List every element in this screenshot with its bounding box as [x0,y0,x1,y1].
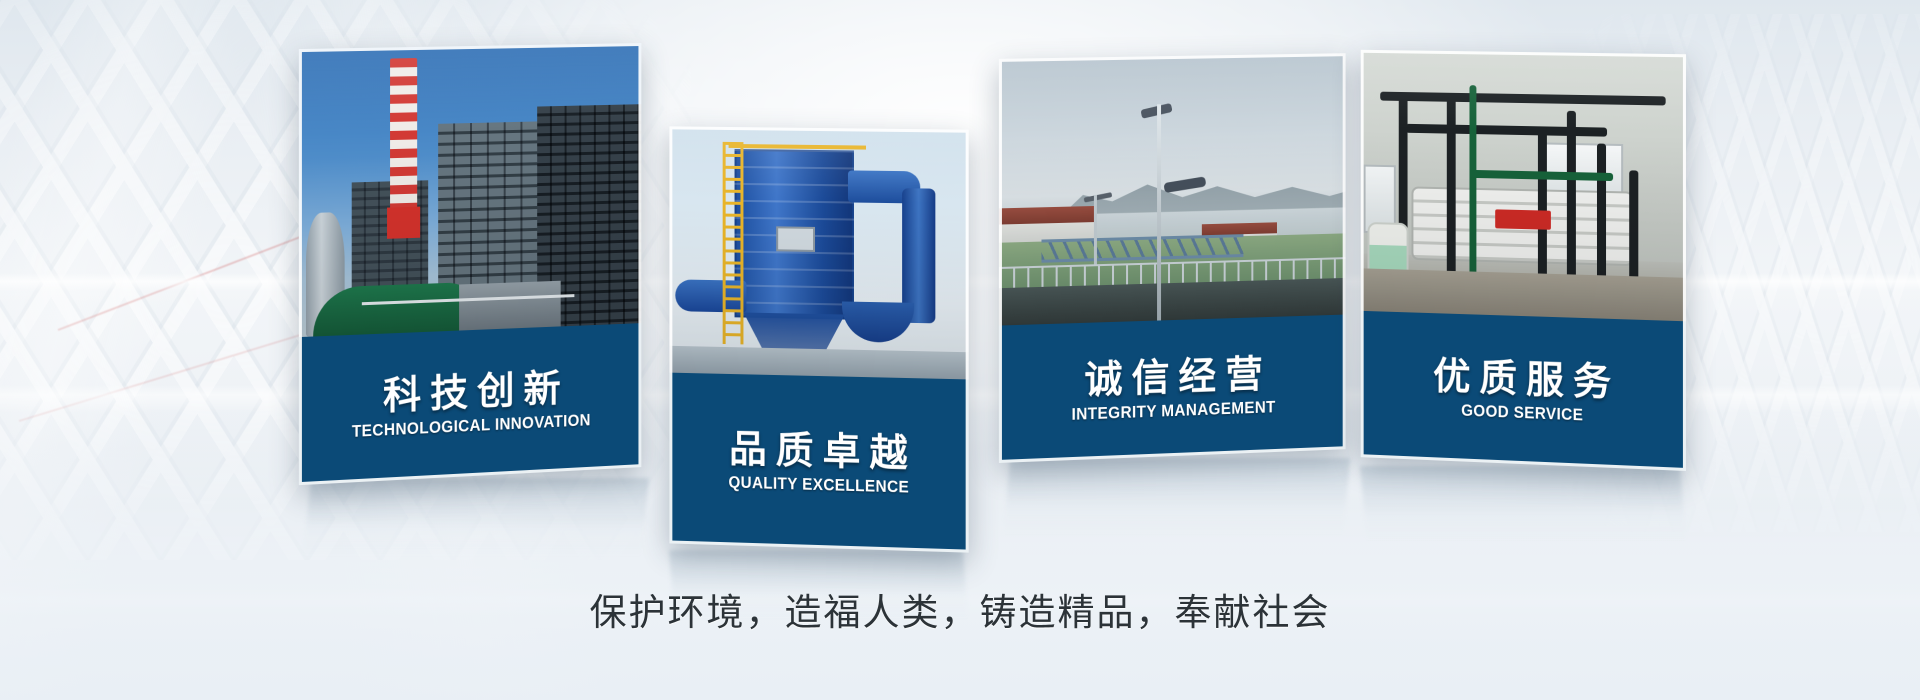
card-caption-band: 品质卓越 QUALITY EXCELLENCE [669,372,968,552]
wastewater-treatment-plant-photo [999,53,1346,325]
card-title-en: GOOD SERVICE [1461,402,1583,425]
feature-card-technological-innovation[interactable]: 科技创新 TECHNOLOGICAL INNOVATION [299,43,641,485]
feature-card-quality-excellence[interactable]: 品质卓越 QUALITY EXCELLENCE [669,126,968,552]
card-title-en: INTEGRITY MANAGEMENT [1071,398,1275,424]
banner-tagline: 保护环境，造福人类，铸造精品，奉献社会 [0,582,1920,636]
card-caption-band: 诚信经营 INTEGRITY MANAGEMENT [999,315,1346,463]
card-title-cn: 科技创新 [374,366,570,418]
feature-card-integrity-management[interactable]: 诚信经营 INTEGRITY MANAGEMENT [999,53,1346,463]
card-caption-band: 优质服务 GOOD SERVICE [1361,311,1686,471]
card-title-cn: 优质服务 [1424,354,1620,404]
card-title-en: QUALITY EXCELLENCE [728,474,909,497]
reverse-osmosis-water-room-photo [1361,50,1686,321]
feature-card-good-service[interactable]: 优质服务 GOOD SERVICE [1361,50,1686,471]
card-caption-band: 科技创新 TECHNOLOGICAL INNOVATION [299,323,641,485]
flue-gas-treatment-plant-photo [299,43,641,337]
blue-dust-collector-photo [669,126,968,379]
card-title-cn: 诚信经营 [1075,352,1271,401]
card-title-cn: 品质卓越 [720,427,917,475]
banner-stage: 科技创新 TECHNOLOGICAL INNOVATION [0,0,1920,700]
